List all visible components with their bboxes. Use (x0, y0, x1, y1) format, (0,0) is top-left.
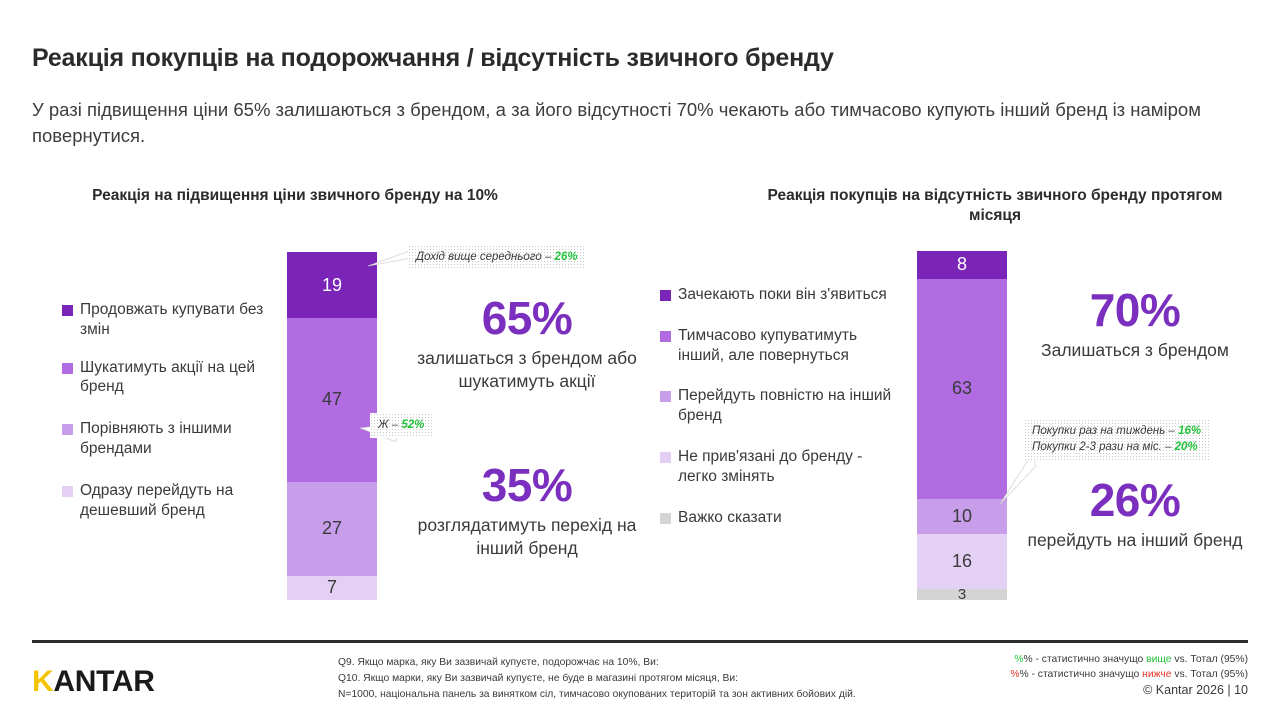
sig-up-prefix: % - статистично значущо (1024, 654, 1147, 665)
legend-item[interactable]: Одразу перейдуть на дешевший бренд (62, 481, 287, 521)
legend-item-label: Продовжать купувати без змін (80, 300, 287, 340)
bar-segment-value: 7 (327, 577, 337, 598)
callout-caption: Залишаться з брендом (1010, 339, 1260, 362)
callout-caption: залишаться з брендом або шукатимуть акці… (402, 347, 652, 393)
question-notes: Q9. Якщо марка, яку Ви зазвичай купуєте,… (338, 655, 856, 703)
sig-up-suffix: vs. Тотал (95%) (1171, 654, 1248, 665)
legend-item-label: Не прив'язані до бренду - легко змінять (678, 447, 905, 487)
left-chart-panel: Реакція на підвищення ціни звичного брен… (30, 170, 650, 630)
bar-segment-value: 3 (958, 586, 966, 603)
legend-item[interactable]: Важко сказати (660, 508, 905, 528)
right-chart-panel: Реакція покупців на відсутність звичного… (650, 170, 1270, 630)
callout-26: 26% перейдуть на інший бренд (1010, 477, 1260, 552)
leader-line-purchase-frequency (1000, 452, 1040, 512)
question-note-line: Q10. Якщо марки, яку Ви зазвичай купуєте… (338, 671, 856, 687)
bar-segment[interactable]: 27 (287, 482, 377, 576)
legend-swatch-icon (660, 452, 671, 463)
legend-item[interactable]: Перейдуть повністю на інший бренд (660, 386, 905, 426)
legend-item[interactable]: Не прив'язані до бренду - легко змінять (660, 447, 905, 487)
bar-segment[interactable]: 63 (917, 279, 1007, 499)
page-subtitle: У разі підвищення ціни 65% залишаються з… (32, 97, 1212, 150)
sig-down-suffix: vs. Тотал (95%) (1171, 669, 1248, 680)
sig-up-word: вище (1146, 654, 1171, 665)
note-income-above-average: Дохід вище середнього – 26% (408, 245, 586, 270)
kantar-logo: KANTAR (32, 665, 155, 699)
logo-accent: K (32, 665, 53, 698)
legend-item-label: Тимчасово купуватимуть інший, але поверн… (678, 326, 905, 366)
legend-swatch-icon (62, 486, 73, 497)
legend-swatch-icon (660, 290, 671, 301)
bar-segment-value: 63 (952, 378, 972, 399)
note-highlight: 26% (555, 251, 578, 263)
slide: Реакція покупців на подорожчання / відсу… (0, 0, 1280, 720)
note-highlight-2: 20% (1175, 441, 1198, 453)
left-chart-legend: Продовжать купувати без змін Шукатимуть … (62, 300, 287, 539)
callout-65: 65% залишаться з брендом або шукатимуть … (402, 295, 652, 392)
bar-segment[interactable]: 3 (917, 589, 1007, 599)
bar-segment-value: 27 (322, 518, 342, 539)
sig-up-percent: % (1014, 654, 1023, 665)
right-chart-title: Реакція покупців на відсутність звичного… (760, 186, 1230, 226)
note-purchase-frequency: Покупки раз на тиждень – 16% Покупки 2-3… (1024, 419, 1209, 461)
callout-value: 65% (402, 295, 652, 343)
left-chart-title: Реакція на підвищення ціни звичного брен… (60, 186, 530, 206)
callout-35: 35% розглядатимуть перехід на інший брен… (402, 462, 652, 559)
significance-higher-line: %% - статистично значущо вище vs. Тотал … (1010, 652, 1248, 667)
legend-item-label: Шукатимуть акції на цей бренд (80, 358, 287, 398)
legend-swatch-icon (660, 513, 671, 524)
legend-swatch-icon (62, 305, 73, 316)
sig-down-percent: % (1010, 669, 1019, 680)
legend-item-label: Одразу перейдуть на дешевший бренд (80, 481, 287, 521)
callout-caption: перейдуть на інший бренд (1010, 529, 1260, 552)
significance-lower-line: %% - статистично значущо нижче vs. Тотал… (1010, 667, 1248, 682)
bar-segment-value: 47 (322, 389, 342, 410)
bar-segment[interactable]: 47 (287, 318, 377, 482)
question-note-line: Q9. Якщо марка, яку Ви зазвичай купуєте,… (338, 655, 856, 671)
bar-segment-value: 8 (957, 254, 967, 275)
right-stacked-bar: 8 63 10 16 3 (917, 251, 1007, 600)
right-chart-legend: Зачекають поки він з'явиться Тимчасово к… (660, 285, 905, 549)
bar-segment[interactable]: 19 (287, 252, 377, 318)
callout-70: 70% Залишаться з брендом (1010, 287, 1260, 362)
logo-text: ANTAR (53, 665, 154, 698)
sig-down-word: нижче (1142, 669, 1171, 680)
legend-swatch-icon (62, 363, 73, 374)
legend-swatch-icon (660, 391, 671, 402)
note-text: Дохід вище середнього – (416, 251, 555, 263)
significance-legend: %% - статистично значущо вище vs. Тотал … (1010, 652, 1248, 683)
legend-item-label: Важко сказати (678, 508, 782, 528)
legend-item[interactable]: Продовжать купувати без змін (62, 300, 287, 340)
note-highlight: 52% (401, 419, 424, 431)
note-text: Ж – (378, 419, 401, 431)
legend-item-label: Порівняють з іншими брендами (80, 419, 287, 459)
legend-swatch-icon (62, 424, 73, 435)
footer-divider (32, 640, 1248, 643)
copyright-text: © Kantar 2026 | 10 (1143, 683, 1248, 697)
callout-value: 26% (1010, 477, 1260, 525)
note-line-2: Покупки 2-3 рази на міс. – (1032, 441, 1175, 453)
callout-caption: розглядатимуть перехід на інший бренд (402, 514, 652, 560)
legend-item-label: Зачекають поки він з'явиться (678, 285, 887, 305)
legend-item[interactable]: Тимчасово купуватимуть інший, але поверн… (660, 326, 905, 366)
bar-segment[interactable]: 8 (917, 251, 1007, 279)
callout-value: 35% (402, 462, 652, 510)
question-note-line: N=1000, національна панель за винятком с… (338, 687, 856, 703)
legend-swatch-icon (660, 331, 671, 342)
bar-segment-value: 16 (952, 551, 972, 572)
legend-item[interactable]: Порівняють з іншими брендами (62, 419, 287, 459)
legend-item-label: Перейдуть повністю на інший бренд (678, 386, 905, 426)
callout-value: 70% (1010, 287, 1260, 335)
legend-item[interactable]: Шукатимуть акції на цей бренд (62, 358, 287, 398)
page-title: Реакція покупців на подорожчання / відсу… (32, 44, 1252, 73)
legend-item[interactable]: Зачекають поки він з'явиться (660, 285, 905, 305)
note-line-1: Покупки раз на тиждень – (1032, 425, 1178, 437)
note-gender-female: Ж – 52% (370, 413, 432, 438)
bar-segment-value: 10 (952, 506, 972, 527)
sig-down-prefix: % - статистично значущо (1020, 669, 1143, 680)
bar-segment-value: 19 (322, 275, 342, 296)
bar-segment[interactable]: 16 (917, 534, 1007, 590)
note-highlight-1: 16% (1178, 425, 1201, 437)
bar-segment[interactable]: 10 (917, 499, 1007, 534)
bar-segment[interactable]: 7 (287, 576, 377, 600)
